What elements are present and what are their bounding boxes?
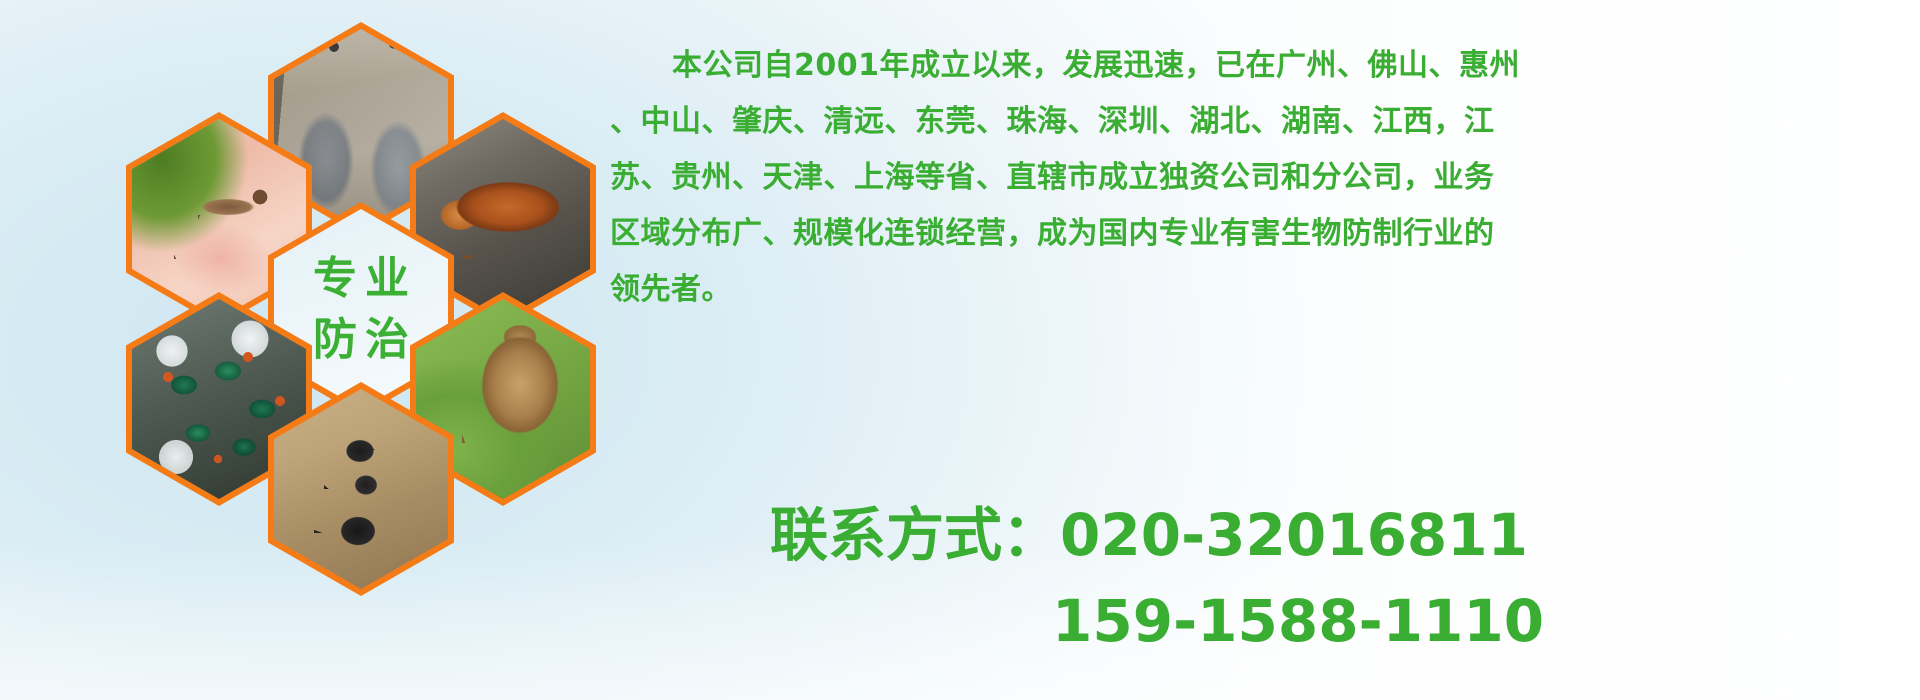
intro-line-4: 区域分布广、规模化连锁经营，成为国内专业有害生物防制行业的 <box>610 206 1870 262</box>
intro-line-3: 苏、贵州、天津、上海等省、直辖市成立独资公司和分公司，业务 <box>610 150 1870 206</box>
logo-line-1: 专业 <box>305 251 417 306</box>
ant-photo <box>274 389 448 589</box>
contact-phone-landline[interactable]: 联系方式：020-32016811 <box>770 492 1870 578</box>
hexagon-photo-collage: 专业 防治 <box>90 0 610 700</box>
intro-line-5: 领先者。 <box>610 262 1870 318</box>
intro-line-1: 本公司自2001年成立以来，发展迅速，已在广州、佛山、惠州 <box>610 38 1870 94</box>
promo-banner: 专业 防治 本公司自2001年成立以来，发展迅速，已在广州、佛山、惠州 、中山、… <box>0 0 1920 700</box>
contact-block: 联系方式：020-32016811 159-1588-1110 <box>770 492 1870 664</box>
hex-inner <box>274 389 448 589</box>
intro-line-2: 、中山、肇庆、清远、东莞、珠海、深圳、湖北、湖南、江西，江 <box>610 94 1870 150</box>
logo-line-2: 防治 <box>305 312 417 367</box>
company-intro-paragraph: 本公司自2001年成立以来，发展迅速，已在广州、佛山、惠州 、中山、肇庆、清远、… <box>610 38 1870 318</box>
contact-phone-mobile[interactable]: 159-1588-1110 <box>770 578 1870 664</box>
